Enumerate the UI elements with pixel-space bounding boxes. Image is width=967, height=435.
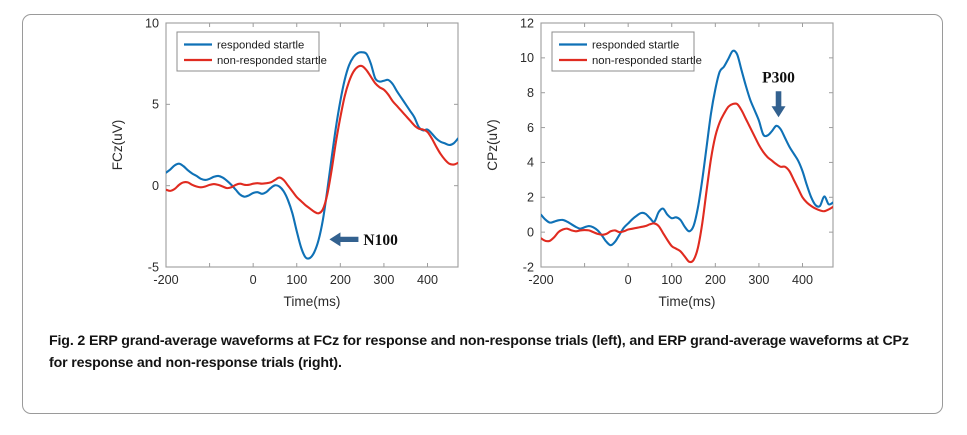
y-tick-label: 5	[152, 98, 159, 112]
x-tick-label: 200	[705, 273, 726, 287]
x-axis-title: Time(ms)	[659, 294, 716, 309]
x-tick-label: 300	[373, 273, 394, 287]
waveform-line	[541, 103, 833, 262]
legend-label: non-responded startle	[592, 55, 702, 67]
chart-panel-cpz: -2000100200300400-2024681012Time(ms)CPz(…	[478, 15, 848, 325]
annotation-label: N100	[363, 232, 398, 249]
annotation-p300: P300	[762, 69, 795, 117]
charts-container: -2000100200300400-50510Time(ms)FCz(uV)re…	[23, 15, 944, 325]
x-tick-label: 100	[286, 273, 307, 287]
y-tick-label: 2	[527, 191, 534, 205]
annotation-label: P300	[762, 69, 795, 86]
legend-label: responded startle	[592, 40, 679, 52]
waveform-group	[166, 52, 458, 258]
waveform-line	[166, 66, 458, 214]
figure-card: -2000100200300400-50510Time(ms)FCz(uV)re…	[22, 14, 943, 414]
x-tick-label: 300	[748, 273, 769, 287]
x-tick-label: 200	[330, 273, 351, 287]
waveform-line	[166, 52, 458, 258]
x-tick-label: 100	[661, 273, 682, 287]
chart-fcz: -2000100200300400-50510Time(ms)FCz(uV)re…	[103, 15, 473, 325]
figure-caption: Fig. 2 ERP grand-average waveforms at FC…	[49, 331, 911, 374]
legend-label: responded startle	[217, 40, 304, 52]
y-tick-label: 8	[527, 86, 534, 100]
x-axis-title: Time(ms)	[284, 294, 341, 309]
x-tick-label: 0	[250, 273, 257, 287]
x-tick-label: 400	[417, 273, 438, 287]
y-axis-title: CPz(uV)	[485, 119, 500, 170]
y-tick-label: 0	[152, 179, 159, 193]
y-tick-label: 10	[520, 51, 534, 65]
x-tick-label: -200	[153, 273, 178, 287]
annotation-n100: N100	[329, 232, 398, 249]
y-tick-label: 10	[145, 16, 159, 30]
legend-label: non-responded startle	[217, 55, 327, 67]
x-tick-label: -200	[528, 273, 553, 287]
y-tick-label: -5	[148, 260, 159, 274]
chart-panel-fcz: -2000100200300400-50510Time(ms)FCz(uV)re…	[103, 15, 473, 325]
arrow-left-icon	[329, 232, 358, 246]
chart-cpz: -2000100200300400-2024681012Time(ms)CPz(…	[478, 15, 848, 325]
y-axis-title: FCz(uV)	[110, 120, 125, 171]
y-tick-label: -2	[523, 260, 534, 274]
x-tick-label: 0	[625, 273, 632, 287]
y-tick-label: 4	[527, 156, 534, 170]
y-tick-label: 12	[520, 16, 534, 30]
x-tick-label: 400	[792, 273, 813, 287]
y-tick-label: 0	[527, 225, 534, 239]
y-tick-label: 6	[527, 121, 534, 135]
arrow-down-icon	[772, 91, 786, 117]
